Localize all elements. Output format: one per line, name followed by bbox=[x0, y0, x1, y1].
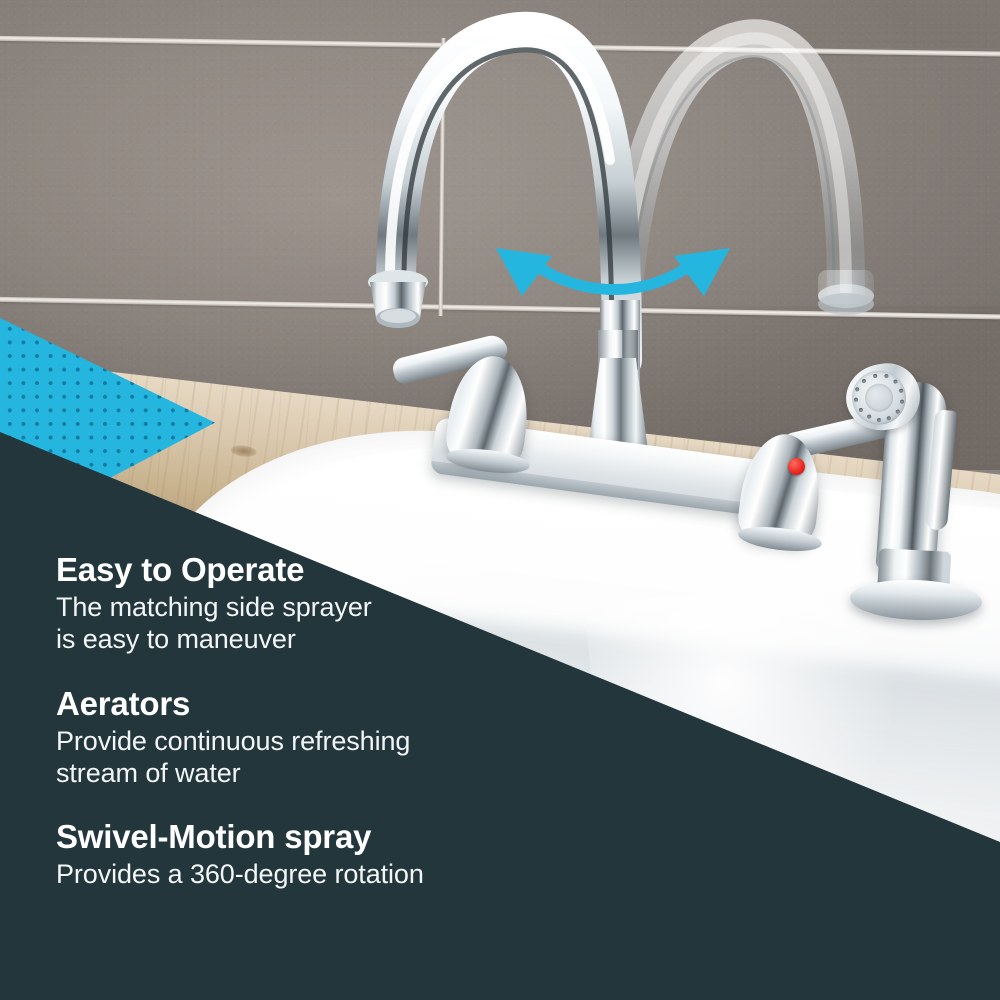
feature-title: Easy to Operate bbox=[56, 552, 616, 589]
feature-item: Swivel-Motion spray Provides a 360-degre… bbox=[56, 819, 616, 890]
feature-description-line-2: is easy to maneuver bbox=[56, 623, 616, 655]
feature-description-line-1: Provide continuous refreshing bbox=[56, 725, 616, 757]
feature-description-line-1: Provides a 360-degree rotation bbox=[56, 858, 616, 890]
feature-description-line-1: The matching side sprayer bbox=[56, 591, 616, 623]
feature-title: Aerators bbox=[56, 686, 616, 723]
feature-list: Easy to Operate The matching side spraye… bbox=[56, 552, 616, 891]
feature-title: Swivel-Motion spray bbox=[56, 819, 616, 856]
feature-item: Easy to Operate The matching side spraye… bbox=[56, 552, 616, 656]
feature-description-line-2: stream of water bbox=[56, 757, 616, 789]
tile-panel bbox=[440, 48, 1000, 306]
feature-item: Aerators Provide continuous refreshing s… bbox=[56, 686, 616, 790]
product-feature-graphic: Easy to Operate The matching side spraye… bbox=[0, 0, 1000, 1000]
